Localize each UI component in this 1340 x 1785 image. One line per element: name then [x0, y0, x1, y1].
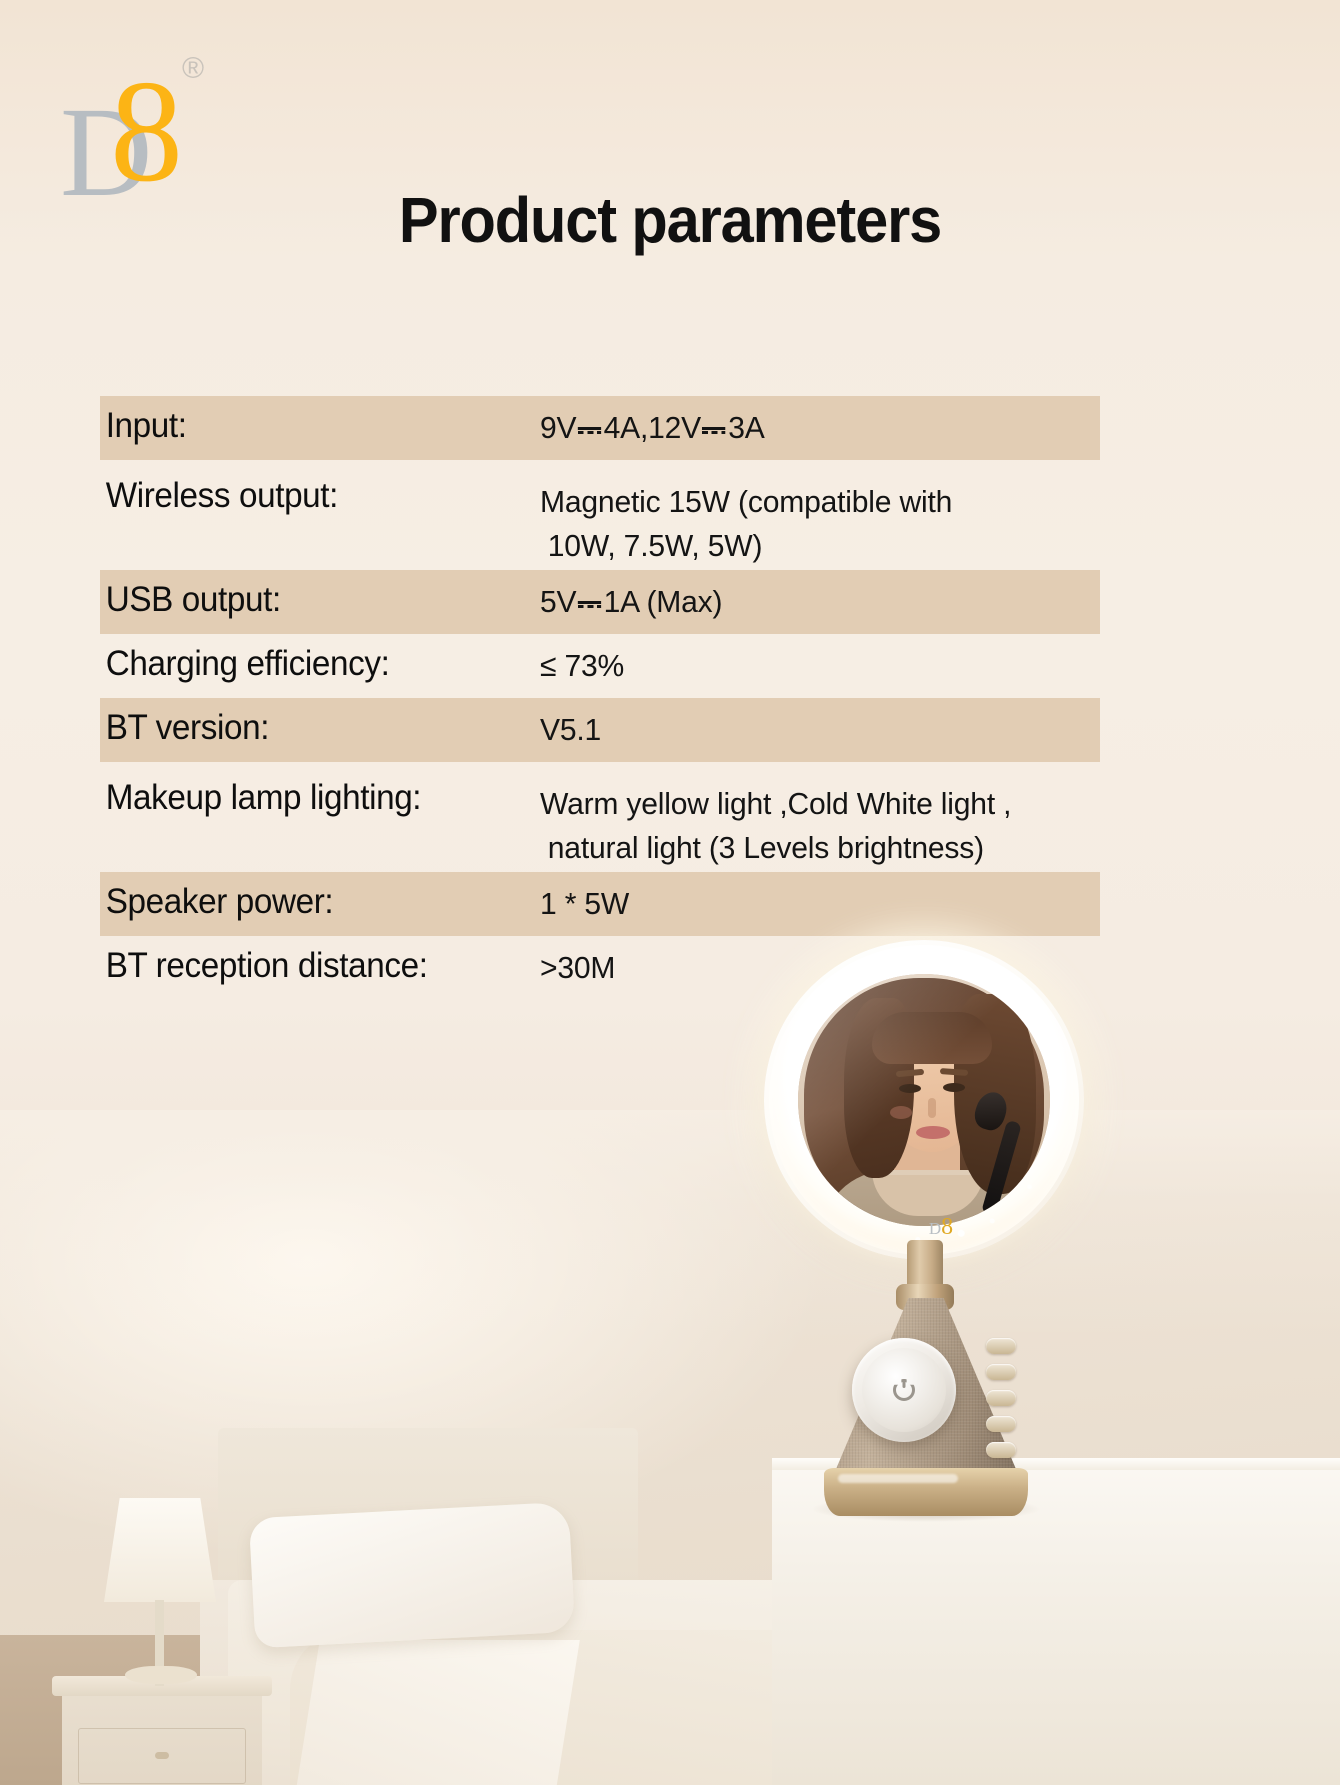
row-label: Input:: [100, 396, 518, 446]
row-value-part1: 9V: [540, 410, 576, 445]
table-row: Charging efficiency: ≤ 73%: [100, 634, 1100, 698]
row-label: Makeup lamp lighting:: [100, 762, 518, 818]
row-value: 1 * 5W: [540, 872, 1083, 922]
control-button-3[interactable]: [986, 1390, 1016, 1406]
row-value: Magnetic 15W (compatible with 10W, 7.5W,…: [540, 460, 1083, 568]
wireless-charging-puck[interactable]: [852, 1338, 956, 1442]
row-value: V5.1: [540, 698, 1083, 748]
rim-logo-letter-eight: 8: [941, 1214, 953, 1240]
power-icon[interactable]: [893, 1379, 915, 1401]
row-label: Charging efficiency:: [100, 634, 518, 684]
row-label: BT version:: [100, 698, 518, 748]
table-row: USB output: 5V1A (Max): [100, 570, 1100, 634]
row-value-part2: 4A,12V: [604, 410, 701, 445]
side-control-buttons[interactable]: [986, 1338, 1020, 1468]
row-value-line1: Magnetic 15W (compatible with: [540, 484, 952, 519]
registered-trademark-icon: ®: [182, 52, 204, 86]
row-value-line1: Warm yellow light ,Cold White light ,: [540, 786, 1011, 821]
row-value: ≤ 73%: [540, 634, 1083, 684]
control-button-2[interactable]: [986, 1364, 1016, 1380]
dc-symbol-icon: [702, 419, 727, 438]
puck-face: [862, 1348, 946, 1432]
product-image: D8: [744, 940, 1104, 1540]
table-row: Input: 9V4A,12V3A: [100, 396, 1100, 460]
table-row: BT version: V5.1: [100, 698, 1100, 762]
row-value: 5V1A (Max): [540, 570, 1083, 620]
control-button-5[interactable]: [986, 1442, 1016, 1458]
row-value-part2: 1A (Max): [604, 584, 723, 619]
dc-symbol-icon: [577, 419, 602, 438]
rim-logo-letter-d: D: [929, 1219, 941, 1238]
table-row: Makeup lamp lighting: Warm yellow light …: [100, 762, 1100, 872]
base-rim-highlight: [838, 1474, 958, 1483]
page-title: Product parameters: [47, 183, 1293, 257]
row-value-line2: 10W, 7.5W, 5W): [540, 524, 1083, 568]
row-value-line2: natural light (3 Levels brightness): [540, 826, 1083, 870]
table-row: Speaker power: 1 * 5W: [100, 872, 1100, 936]
row-label: USB output:: [100, 570, 518, 620]
row-label: Speaker power:: [100, 872, 518, 922]
row-value: Warm yellow light ,Cold White light ,nat…: [540, 762, 1083, 870]
row-value-part1: 5V: [540, 584, 576, 619]
row-label: BT reception distance:: [100, 936, 518, 986]
brand-logo: D 8 ®: [60, 36, 290, 186]
glass-sheen: [798, 974, 1050, 1226]
row-value-part3: 3A: [728, 410, 764, 445]
control-button-1[interactable]: [986, 1338, 1016, 1354]
row-value: 9V4A,12V3A: [540, 396, 1083, 446]
led-mirror: D8: [764, 940, 1084, 1260]
table-row: Wireless output: Magnetic 15W (compatibl…: [100, 460, 1100, 570]
dc-symbol-icon: [577, 593, 602, 612]
control-button-4[interactable]: [986, 1416, 1016, 1432]
product-parameters-table: Input: 9V4A,12V3A Wireless output: Magne…: [100, 396, 1100, 1000]
row-label: Wireless output:: [100, 460, 518, 516]
mirror-glass-reflection: [798, 974, 1050, 1226]
